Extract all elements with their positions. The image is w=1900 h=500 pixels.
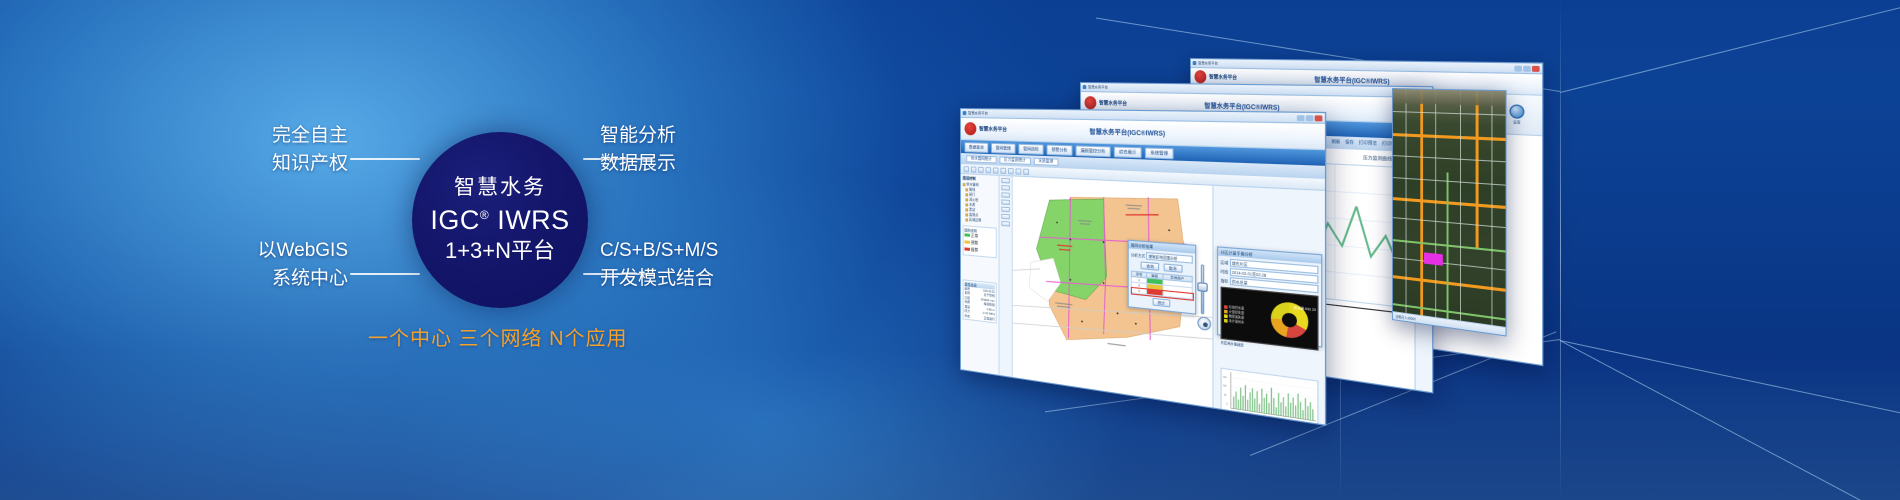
legend-label: 报警 — [971, 246, 978, 253]
map-road-secondary — [1447, 172, 1449, 329]
close-icon[interactable] — [1315, 115, 1323, 121]
layer-swatch-icon — [965, 208, 968, 211]
label-bottom-right-line2: 开发模式结合 — [600, 265, 820, 293]
tree-node[interactable]: 区域边界 — [963, 217, 997, 224]
toolbar-identify-icon[interactable] — [1000, 167, 1006, 173]
dialog-cancel-button[interactable]: 取消 — [1163, 264, 1182, 273]
layer-swatch-icon — [965, 203, 968, 206]
svg-text:0: 0 — [1226, 403, 1227, 406]
legend-box: 图例说明 正常 预警 报警 — [963, 225, 997, 258]
map-street — [1491, 91, 1492, 336]
map-street — [1393, 155, 1507, 162]
window-title: 智慧水务平台 — [1198, 61, 1218, 66]
app-icon — [963, 111, 967, 115]
map-street — [1460, 90, 1461, 331]
product-igc: IGC — [430, 205, 480, 235]
platform-title: 智慧水务平台(IGC®IWRS) — [961, 124, 1325, 142]
toolbar-layer-icon[interactable] — [1016, 168, 1022, 174]
label-bottom-left: 以WebGIS 系统中心 — [190, 237, 348, 292]
dialog-results-table[interactable]: 序号 等级 影响用户 1 2 — [1131, 271, 1193, 300]
map-road-major — [1393, 197, 1507, 209]
toolbar-search-icon[interactable] — [1023, 168, 1029, 174]
property-value: 正常运行 — [984, 315, 995, 321]
window-title: 智慧水务平台 — [1088, 85, 1108, 90]
layer-swatch-icon — [965, 193, 968, 196]
tree-node-label: 区域边界 — [969, 217, 981, 223]
layer-swatch-icon — [963, 183, 966, 186]
window-title: 智慧水务平台 — [968, 111, 988, 116]
map-tool-strip[interactable] — [999, 176, 1012, 387]
label-top-left: 完全自主 知识产权 — [200, 122, 348, 177]
map-street — [1393, 257, 1507, 271]
nav-item-zonghezhanshi[interactable]: 综合展示 — [1114, 146, 1142, 158]
grid-vertical-line — [1560, 0, 1561, 500]
center-badge-platform: 1+3+N平台 — [445, 238, 555, 264]
product-iwrs: IWRS — [497, 205, 570, 235]
maximize-icon[interactable] — [1523, 65, 1531, 71]
map-street — [1435, 90, 1436, 328]
properties-box: 属性信息 编号GW-0132 名称主干管线 口径DN600 mm 材质球墨铸铁 … — [963, 279, 997, 324]
donut-hole — [1282, 313, 1297, 329]
label-bottom-left-line1: 以WebGIS — [190, 237, 348, 265]
map-road-major — [1393, 275, 1507, 292]
label-top-right: 智能分析 数据展示 — [600, 122, 800, 177]
status-scale: 比例尺 1:5000 — [972, 383, 991, 391]
map-road-major — [1393, 133, 1507, 141]
toolbar-print-icon[interactable] — [1008, 168, 1014, 174]
donut-legend-label: 未计量用水 — [1229, 319, 1244, 325]
layer-panel[interactable]: 图层控制 供水管网 管线 阀门 消火栓 水表 泵站 监测点 区域边界 图例说明 … — [961, 174, 1000, 385]
nav-item-loussunguankong[interactable]: 漏损管控分析 — [1076, 145, 1111, 157]
nav-item-guanwangxunjian[interactable]: 管网巡检 — [1018, 143, 1043, 154]
monthly-usage-chart: 150100500 — [1221, 368, 1319, 426]
label-top-right-line2: 数据展示 — [600, 150, 800, 178]
dialog-query-button[interactable]: 查询 — [1141, 262, 1159, 271]
label-top-left-line2: 知识产权 — [200, 150, 348, 178]
map-zoom-control[interactable] — [1197, 264, 1207, 331]
connector-bottom-left — [350, 273, 420, 275]
gis-map-view[interactable]: 管网分析结果 分析方式 爆管影响范围分析 查询 取消 — [1013, 176, 1213, 418]
center-badge-product: IGC® IWRS — [430, 205, 569, 237]
status-coords: 坐标 X:3218 Y:4411 — [993, 386, 1019, 395]
connector-top-left — [350, 158, 420, 160]
table-cell-level — [1147, 289, 1163, 296]
status-text: 比例尺 1:20000 — [1396, 314, 1416, 322]
grid-line — [1560, 0, 1900, 93]
legend-swatch-icon — [965, 247, 970, 250]
table-cell-no: 3 — [1131, 288, 1146, 295]
toolbar-zoom-out-icon[interactable] — [986, 167, 992, 173]
map-street — [1393, 177, 1507, 186]
toolbar-pointer-icon[interactable] — [964, 166, 969, 172]
floor-haze — [0, 350, 1900, 500]
app-icon — [1193, 61, 1197, 65]
center-badge: 智慧水务 IGC® IWRS 1+3+N平台 — [412, 132, 588, 308]
layer-swatch-icon — [965, 213, 968, 216]
nav-item-shujuchaxun[interactable]: 数据查询 — [965, 142, 989, 153]
nav-item-yujingfenxi[interactable]: 预警分析 — [1047, 144, 1073, 155]
legend-label: 正常 — [971, 232, 978, 239]
map-road-secondary — [1393, 239, 1507, 253]
label-bottom-right: C/S+B/S+M/S 开发模式结合 — [600, 237, 820, 292]
analysis-dock[interactable]: 分区计量平衡分析 区域 城东片区 时段 2014-02-01至02-28 指标 — [1212, 186, 1325, 426]
dialog-body[interactable]: 分析方式 爆管影响范围分析 查询 取消 序号 等级 — [1129, 249, 1195, 313]
property-key: 状态 — [965, 313, 970, 318]
nav-item-guanwangguanli[interactable]: 管网管理 — [991, 142, 1015, 153]
tool-flow-icon[interactable] — [1001, 207, 1009, 213]
dialog-stat-button[interactable]: 统计 — [1152, 298, 1171, 308]
tool-trace-icon[interactable] — [1001, 185, 1009, 191]
layer-swatch-icon — [965, 218, 968, 221]
sub-nav-item[interactable]: 供水管网统计 — [966, 155, 996, 163]
tool-buffer-icon[interactable] — [1001, 192, 1009, 198]
center-badge-title: 智慧水务 — [454, 176, 546, 201]
map-street — [1393, 111, 1507, 116]
map-street — [1393, 217, 1507, 228]
window-body: 图层控制 供水管网 管线 阀门 消火栓 水表 泵站 监测点 区域边界 图例说明 … — [961, 174, 1325, 426]
layer-swatch-icon — [965, 188, 968, 191]
sub-nav-action[interactable]: 刷新 — [1331, 140, 1340, 146]
zoom-slider-knob[interactable] — [1197, 282, 1207, 292]
app-icon — [1083, 85, 1087, 89]
layer-swatch-icon — [965, 198, 968, 201]
label-bottom-left-line2: 系统中心 — [190, 265, 348, 293]
svg-text:150: 150 — [1223, 377, 1227, 380]
panel-field-label: 指标 — [1221, 278, 1229, 284]
map-selection-highlight — [1424, 252, 1443, 265]
sub-nav-action[interactable]: 打印预览 — [1359, 141, 1377, 147]
analysis-dialog[interactable]: 管网分析结果 分析方式 爆管影响范围分析 查询 取消 — [1128, 240, 1197, 315]
window-controls[interactable] — [1514, 65, 1539, 71]
metering-panel[interactable]: 分区计量平衡分析 区域 城东片区 时段 2014-02-01至02-28 指标 — [1217, 247, 1322, 348]
minimize-icon[interactable] — [1297, 115, 1305, 121]
toolbar-measure-icon[interactable] — [993, 167, 999, 173]
svg-text:100: 100 — [1223, 385, 1227, 388]
app-window-4-satellite-map[interactable]: 比例尺 1:20000 — [1392, 88, 1507, 337]
panel-field-label: 时段 — [1221, 269, 1229, 275]
metering-panel-body[interactable]: 区域 城东片区 时段 2014-02-01至02-28 指标 供水总量 — [1218, 256, 1321, 360]
grid-line — [1560, 340, 1900, 430]
label-bottom-right-line1: C/S+B/S+M/S — [600, 237, 820, 265]
toolbar-icon[interactable]: 设置 — [1509, 104, 1524, 125]
panel-field-label: 区域 — [1221, 259, 1229, 265]
satellite-basemap[interactable] — [1393, 89, 1506, 335]
window-controls[interactable] — [1297, 115, 1322, 121]
legend-row: 报警 — [965, 246, 995, 255]
legend-swatch-icon — [965, 233, 970, 236]
banner-stage: 完全自主 知识产权 智能分析 数据展示 以WebGIS 系统中心 C/S+B/S… — [0, 0, 1900, 500]
dialog-field-label: 分析方式 — [1131, 252, 1145, 259]
status-text: 就绪 — [964, 382, 970, 388]
map-street — [1406, 89, 1407, 323]
tool-select-icon[interactable] — [1001, 178, 1009, 184]
app-window-1[interactable]: 智慧水务平台 智慧水务平台 智慧水务平台(IGC®IWRS) 数据查询 管网管理… — [960, 108, 1326, 426]
map-urban-band — [1393, 89, 1507, 106]
minimize-icon[interactable] — [1514, 65, 1521, 71]
toolbar-zoom-in-icon[interactable] — [978, 166, 984, 172]
legend-label: 预警 — [971, 239, 978, 246]
svg-text:50: 50 — [1224, 394, 1227, 397]
tool-valve-icon[interactable] — [1001, 199, 1009, 205]
grid-line — [1560, 340, 1900, 500]
sub-nav-item[interactable]: 水质监测 — [1033, 158, 1058, 166]
close-icon[interactable] — [1532, 65, 1540, 71]
label-top-left-line1: 完全自主 — [200, 122, 348, 150]
nav-item-xitongguanli[interactable]: 系统管理 — [1145, 147, 1174, 159]
toolbar-pan-icon[interactable] — [971, 166, 976, 172]
tool-label-icon[interactable] — [1001, 214, 1009, 220]
label-top-right-line1: 智能分析 — [600, 122, 800, 150]
sub-nav-action[interactable]: 保存 — [1345, 140, 1354, 146]
layer-tree[interactable]: 供水管网 管线 阀门 消火栓 水表 泵站 监测点 区域边界 — [963, 182, 997, 224]
registered-mark-icon: ® — [480, 208, 489, 222]
tool-edit-icon[interactable] — [1001, 221, 1009, 227]
tagline: 一个中心 三个网络 N个应用 — [368, 322, 628, 351]
sub-nav-item[interactable]: 压力监测统计 — [999, 156, 1030, 164]
legend-swatch-icon — [965, 240, 970, 243]
maximize-icon[interactable] — [1306, 115, 1314, 121]
map-road-major — [1420, 90, 1423, 326]
